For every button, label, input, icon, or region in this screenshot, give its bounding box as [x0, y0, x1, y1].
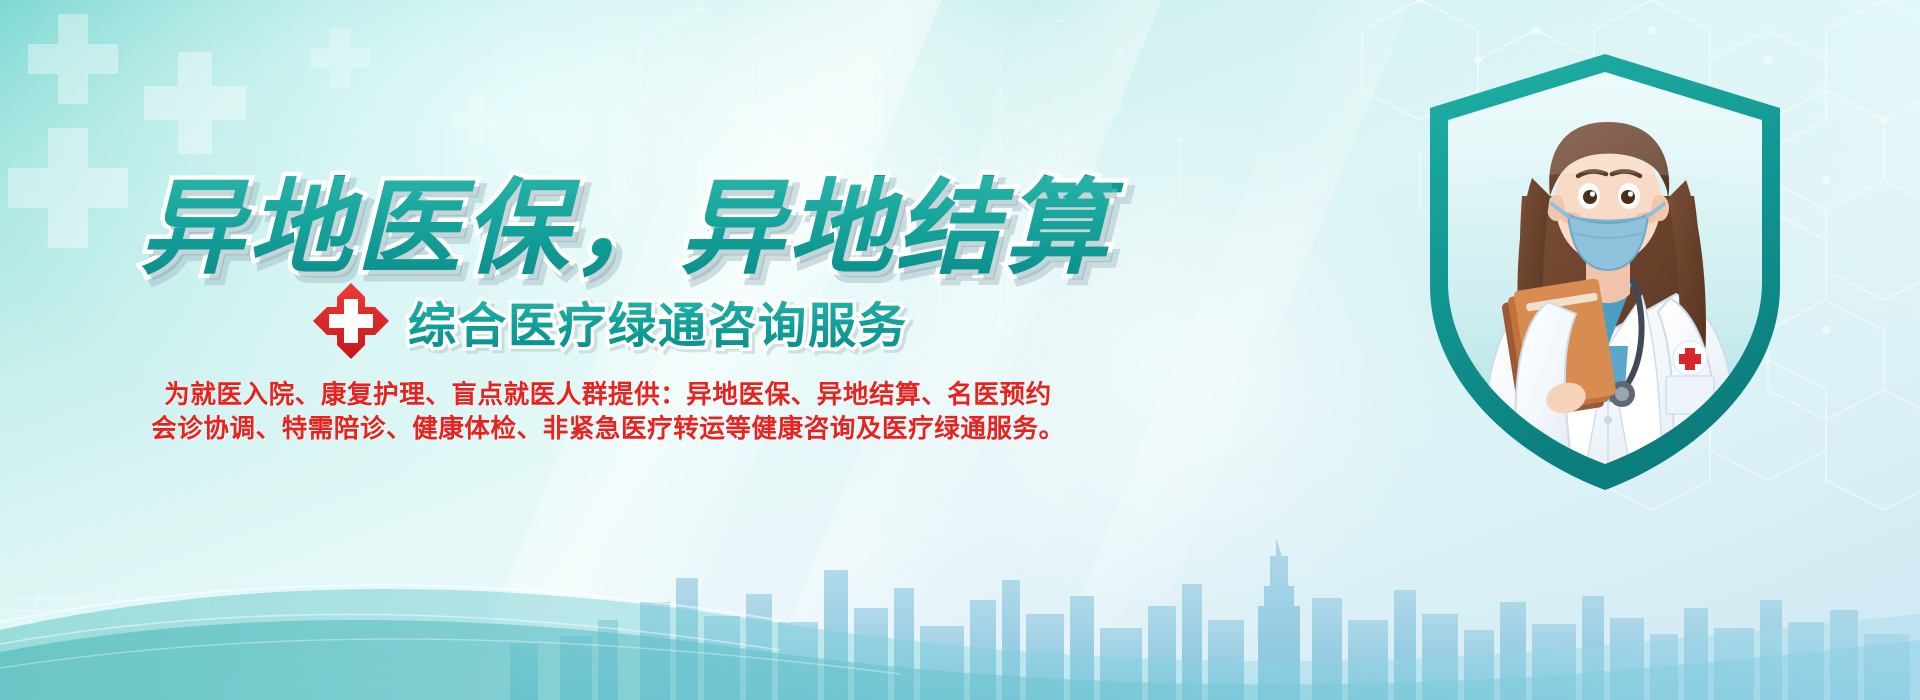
subtitle-row: 综合医疗绿通咨询服务 综合医疗绿通咨询服务 [312, 282, 908, 360]
subtitle-fill-text: 综合医疗绿通咨询服务 [408, 286, 908, 356]
medical-service-banner: 异地医保，异地结算 异地医保，异地结算 综合医疗绿通咨询服务 [0, 0, 1920, 700]
red-cross-badge-icon [1673, 341, 1707, 375]
page-title: 异地医保，异地结算 [140, 176, 1112, 280]
banner-subtitle: 综合医疗绿通咨询服务 综合医疗绿通咨询服务 [408, 286, 908, 356]
banner-description: 为就医入院、康复护理、盲点就医人群提供：异地医保、异地结算、名医预约 会诊协调、… [148, 378, 1068, 446]
doctor-illustration-group [1390, 46, 1820, 516]
red-cross-diamond-icon [312, 282, 390, 360]
description-line-2: 会诊协调、特需陪诊、健康体检、非紧急医疗转运等健康咨询及医疗绿通服务。 [148, 412, 1068, 446]
description-line-1: 为就医入院、康复护理、盲点就医人群提供：异地医保、异地结算、名医预约 [148, 378, 1068, 412]
city-skyline-silhouette [0, 510, 1920, 700]
